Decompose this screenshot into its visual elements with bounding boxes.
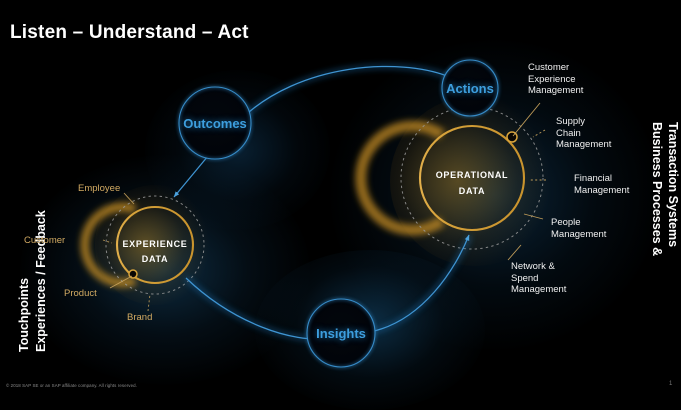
core-label-operational-line2: DATA bbox=[459, 184, 485, 199]
system-line: People bbox=[551, 217, 606, 229]
page-title: Listen – Understand – Act bbox=[10, 22, 249, 44]
core-label-operational-line1: OPERATIONAL bbox=[436, 168, 509, 183]
leader-lines-operational bbox=[508, 103, 546, 260]
bubble-label-insights[interactable]: Insights bbox=[316, 326, 366, 341]
system-line: Management bbox=[511, 284, 566, 296]
core-label-experience-line2: DATA bbox=[142, 252, 168, 267]
system-line: Financial bbox=[574, 173, 629, 185]
system-line: Experience bbox=[528, 74, 583, 86]
system-label-people-management[interactable]: People Management bbox=[551, 217, 606, 240]
bubble-label-outcomes[interactable]: Outcomes bbox=[183, 116, 247, 131]
system-line: Spend bbox=[511, 273, 566, 285]
bubble-label-actions[interactable]: Actions bbox=[446, 81, 494, 96]
arc-actions-to-outcomes bbox=[240, 67, 447, 120]
system-line: Management bbox=[551, 229, 606, 241]
page-number: 1 bbox=[669, 381, 672, 387]
diagram-svg bbox=[0, 0, 681, 404]
axis-label-right-line1: Business Processes & bbox=[648, 122, 665, 256]
system-line: Management bbox=[528, 85, 583, 97]
touchpoint-label-brand[interactable]: Brand bbox=[127, 312, 152, 323]
system-label-supply-chain-management[interactable]: Supply Chain Management bbox=[556, 116, 611, 151]
system-label-financial-management[interactable]: Financial Management bbox=[574, 173, 629, 196]
system-line: Management bbox=[556, 139, 611, 151]
touchpoint-label-employee[interactable]: Employee bbox=[78, 183, 120, 194]
slide-canvas: Listen – Understand – Act Touchpoints Ex… bbox=[0, 0, 681, 404]
axis-label-left-line1: Touchpoints bbox=[16, 278, 33, 352]
system-line: Supply bbox=[556, 116, 611, 128]
copyright-footer: © 2018 SAP SE or an SAP affiliate compan… bbox=[6, 383, 137, 388]
axis-label-right-line2: Transaction Systems bbox=[664, 122, 681, 247]
gold-crescent-operational bbox=[361, 126, 442, 230]
system-label-customer-experience-management[interactable]: Customer Experience Management bbox=[528, 62, 583, 97]
system-label-network-spend-management[interactable]: Network & Spend Management bbox=[511, 261, 566, 296]
system-line: Management bbox=[574, 185, 629, 197]
system-line: Customer bbox=[528, 62, 583, 74]
system-line: Network & bbox=[511, 261, 566, 273]
axis-label-left-line2: Experiences / Feedback bbox=[33, 210, 50, 352]
arc-insights-to-operational bbox=[370, 235, 469, 332]
touchpoint-label-product[interactable]: Product bbox=[64, 288, 97, 299]
touchpoint-label-customer[interactable]: Customer bbox=[24, 235, 65, 246]
system-line: Chain bbox=[556, 128, 611, 140]
core-label-experience-line1: EXPERIENCE bbox=[122, 237, 187, 252]
